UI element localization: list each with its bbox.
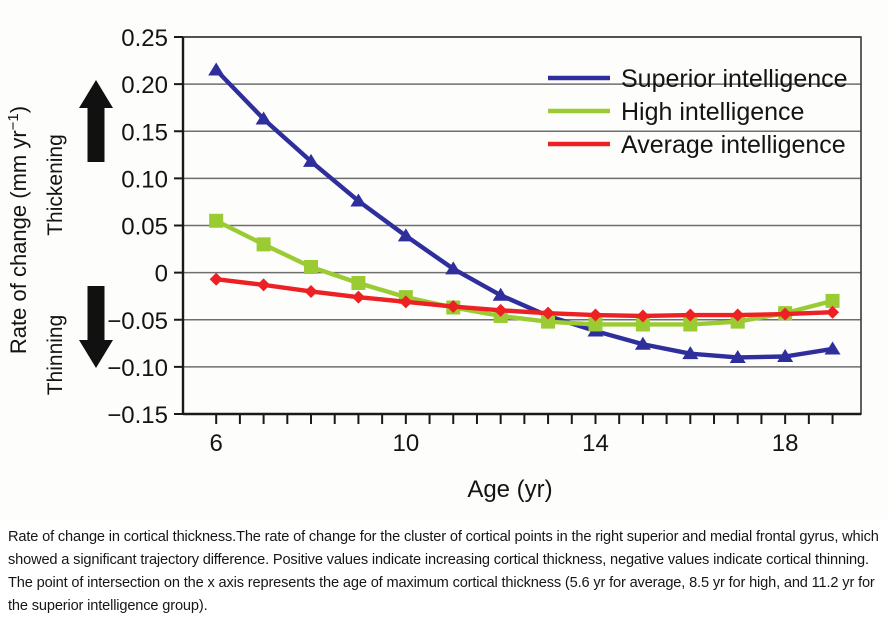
x-tick-label: 18 [772,430,799,457]
figure-panel: 0.250.200.150.100.050−0.05−0.10−0.15 610… [0,0,888,520]
x-tick-label: 10 [392,430,419,457]
y-tick-label: 0.10 [121,166,168,193]
thinning-label: Thinning [44,315,67,396]
y-tick-label: 0.20 [121,72,168,99]
x-axis-title: Age (yr) [467,476,552,503]
figure-caption: Rate of change in cortical thickness.The… [0,520,888,627]
x-tick-label: 14 [582,430,609,457]
x-tick-label: 6 [210,430,223,457]
y-tick-label: −0.15 [107,402,168,429]
caption-text: Rate of change in cortical thickness.The… [8,526,880,618]
y-tick-label: 0.15 [121,119,168,146]
y-tick-label: −0.05 [107,308,168,335]
legend-label: Average intelligence [621,131,846,159]
thickening-label: Thickening [44,134,67,236]
rate-of-change-chart: 0.250.200.150.100.050−0.05−0.10−0.15 610… [0,0,888,520]
chart-legend: Superior intelligenceHigh intelligenceAv… [548,65,848,159]
legend-label: High intelligence [621,98,804,126]
y-tick-label: −0.10 [107,355,168,382]
legend-label: Superior intelligence [621,65,848,93]
y-tick-label: 0 [155,261,168,288]
y-tick-label: 0.05 [121,214,168,241]
y-axis-title: Rate of change (mm yr−1) [5,106,32,354]
y-tick-label: 0.25 [121,25,168,52]
